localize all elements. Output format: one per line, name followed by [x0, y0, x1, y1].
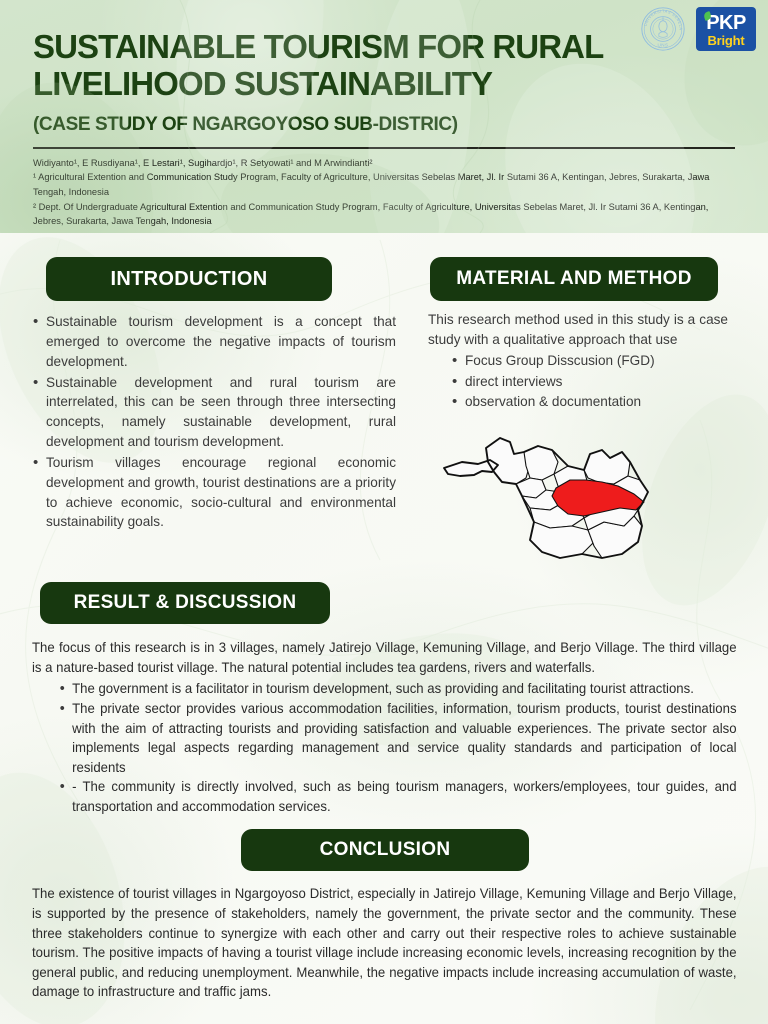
introduction-bullet-list: Sustainable tourism development is a con…: [32, 312, 396, 532]
conclusion-text: The existence of tourist villages in Nga…: [32, 884, 737, 1001]
list-item: direct interviews: [451, 372, 728, 392]
list-item: Sustainable tourism development is a con…: [32, 312, 396, 372]
conclusion-section: CONCLUSION The existence of tourist vill…: [0, 829, 768, 1001]
study-area-map: [438, 422, 668, 572]
introduction-header-bar: INTRODUCTION: [46, 257, 332, 301]
affiliation-2: ² Dept. Of Undergraduate Agricultural Ex…: [33, 200, 710, 229]
list-item: The private sector provides various acco…: [59, 699, 737, 777]
conclusion-title: CONCLUSION: [320, 839, 451, 861]
authors-line: Widiyanto¹, E Rusdiyana¹, E Lestari¹, Su…: [33, 156, 710, 171]
map-region-south: [530, 522, 594, 558]
material-method-section: MATERIAL AND METHOD This research method…: [428, 257, 728, 572]
material-method-header-bar: MATERIAL AND METHOD: [430, 257, 718, 301]
pkp-logo-sub-text: Bright: [707, 34, 744, 47]
list-item: Tourism villages encourage regional econ…: [32, 453, 396, 532]
uns-logo-icon: UNIVERSITAS SEBELAS MARET UNS: [640, 6, 686, 52]
poster-header: UNIVERSITAS SEBELAS MARET UNS PKP Bright…: [0, 0, 768, 233]
result-discussion-bullet-list: The government is a facilitator in touri…: [32, 679, 737, 816]
introduction-title: INTRODUCTION: [111, 268, 268, 291]
list-item: Sustainable development and rural touris…: [32, 373, 396, 452]
karanganyar-map-svg: [438, 422, 668, 572]
result-discussion-title: RESULT & DISCUSSION: [74, 592, 297, 614]
svg-text:UNIVERSITAS SEBELAS MARET: UNIVERSITAS SEBELAS MARET: [640, 6, 683, 31]
logo-group: UNIVERSITAS SEBELAS MARET UNS PKP Bright: [640, 6, 756, 52]
poster-title: SUSTAINABLE TOURISM FOR RURAL LIVELIHOOD…: [33, 28, 653, 103]
poster-root: UNIVERSITAS SEBELAS MARET UNS PKP Bright…: [0, 0, 768, 1024]
result-discussion-header-bar: RESULT & DISCUSSION: [40, 582, 330, 624]
list-item: - The community is directly involved, su…: [59, 777, 737, 816]
list-item: Focus Group Disscusion (FGD): [451, 351, 728, 371]
two-column-row: INTRODUCTION Sustainable tourism develop…: [0, 233, 768, 572]
affiliation-1: ¹ Agricultural Extention and Communicati…: [33, 170, 710, 199]
material-method-title: MATERIAL AND METHOD: [456, 268, 691, 290]
material-method-intro: This research method used in this study …: [428, 310, 728, 350]
material-method-bullet-list: Focus Group Disscusion (FGD) direct inte…: [428, 351, 728, 413]
result-discussion-section: RESULT & DISCUSSION The focus of this re…: [0, 582, 768, 816]
conclusion-header-bar: CONCLUSION: [241, 829, 529, 871]
authors-block: Widiyanto¹, E Rusdiyana¹, E Lestari¹, Su…: [0, 149, 768, 229]
list-item: observation & documentation: [451, 392, 728, 412]
pkp-bright-logo: PKP Bright: [696, 7, 756, 51]
introduction-section: INTRODUCTION Sustainable tourism develop…: [32, 257, 396, 533]
list-item: The government is a facilitator in touri…: [59, 679, 737, 699]
pkp-logo-main-text: PKP: [706, 13, 746, 33]
poster-subtitle: (CASE STUDY OF NGARGOYOSO SUB-DISTRIC): [33, 114, 728, 136]
result-discussion-intro: The focus of this research is in 3 villa…: [32, 638, 737, 677]
svg-text:UNS: UNS: [657, 42, 668, 47]
